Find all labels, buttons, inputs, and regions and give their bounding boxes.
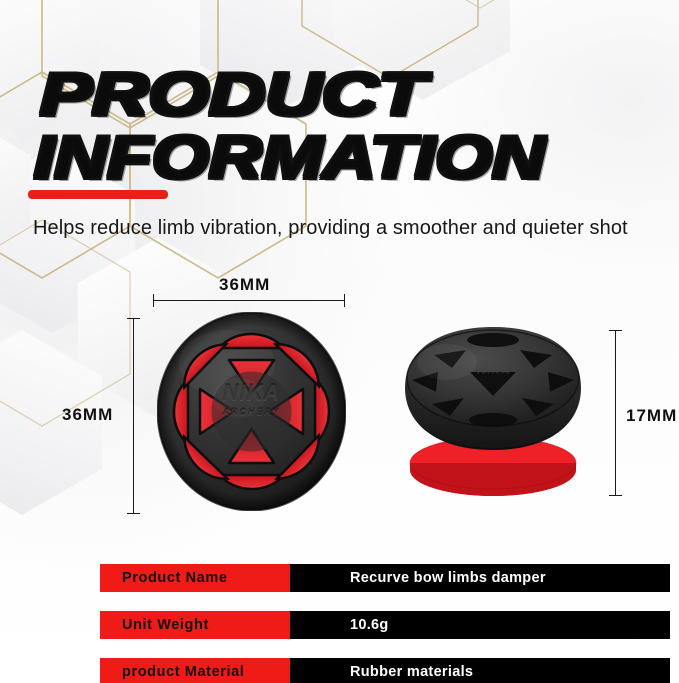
dimension-cap-top: [609, 330, 622, 331]
red-accent-bar: [28, 190, 168, 199]
damper-side-view-image: NIKA: [392, 320, 594, 500]
table-row: product Material Rubber materials: [100, 658, 670, 683]
dimension-cap-top: [127, 318, 140, 319]
damper-front-view-image: NIKA ARCHERY: [157, 312, 346, 511]
spec-key-product-name: Product Name: [100, 564, 290, 592]
dimension-cap-right: [344, 294, 345, 307]
spec-value-product-name: Recurve bow limbs damper: [290, 564, 670, 592]
damper-side-graphic: [392, 320, 594, 500]
dimension-cap-left: [153, 294, 154, 307]
table-row: Unit Weight 10.6g: [100, 611, 670, 639]
dimension-label-height: 36MM: [62, 405, 113, 425]
spec-value-product-material: Rubber materials: [290, 658, 670, 683]
page-title-line-2: INFORMATION: [34, 129, 679, 188]
product-information-page: PRODUCT INFORMATION Helps reduce limb vi…: [0, 0, 679, 683]
dimension-cap-bottom: [609, 495, 622, 496]
hexagon-outline: [390, 0, 570, 10]
table-row: Product Name Recurve bow limbs damper: [100, 564, 670, 592]
dimension-label-width: 36MM: [219, 275, 270, 295]
spec-key-product-material: product Material: [100, 658, 290, 683]
page-title: PRODUCT INFORMATION: [34, 66, 654, 188]
spec-value-unit-weight: 10.6g: [290, 611, 670, 639]
dimension-line-height-vertical-left: [133, 318, 134, 514]
dimension-label-thickness: 17MM: [626, 406, 677, 426]
dimension-line-width-horizontal: [153, 300, 345, 301]
dimension-line-thickness-vertical-right: [615, 330, 616, 496]
spec-key-unit-weight: Unit Weight: [100, 611, 290, 639]
page-subtitle: Helps reduce limb vibration, providing a…: [33, 217, 628, 240]
page-title-line-1: PRODUCT: [40, 66, 679, 125]
hexagon-outline: [0, 218, 132, 428]
damper-front-graphic: [157, 312, 346, 511]
dimension-cap-bottom: [127, 513, 140, 514]
spec-table: Product Name Recurve bow limbs damper Un…: [100, 564, 670, 683]
